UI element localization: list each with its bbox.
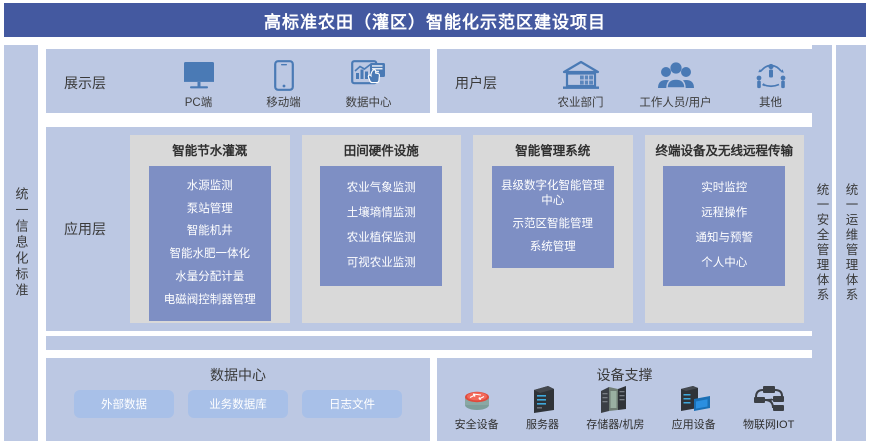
- app-item[interactable]: 远程操作: [701, 205, 747, 222]
- app-item[interactable]: 水源监测: [187, 178, 233, 195]
- app-card-field-hardware[interactable]: 田间硬件设施 农业气象监测 土壤墒情监测 农业植保监测 可视农业监测: [302, 135, 462, 323]
- user-item-agriculture-department[interactable]: 农业部门: [533, 46, 628, 113]
- page-title-bar: 高标准农田（灌区）智能化示范区建设项目: [4, 3, 866, 37]
- data-center-pill-log-files[interactable]: 日志文件: [302, 390, 402, 418]
- user-layer-panel: 用户层 农业部门: [437, 49, 812, 113]
- right-rail-operations-label: 统一运维管理体系: [842, 183, 861, 303]
- app-item[interactable]: 系统管理: [530, 239, 576, 256]
- app-item[interactable]: 智能机井: [187, 223, 233, 240]
- equip-item-application-device[interactable]: 应用设备: [672, 382, 716, 432]
- government-building-icon: [561, 58, 601, 92]
- app-item[interactable]: 电磁阀控制器管理: [164, 292, 256, 309]
- data-center-pill-business-db[interactable]: 业务数据库: [188, 390, 288, 418]
- right-rail-operations-management: 统一运维管理体系: [836, 45, 866, 441]
- mobile-phone-icon: [274, 58, 294, 92]
- app-card-management-system-body: 县级数字化智能管理中心 示范区智能管理 系统管理: [492, 166, 614, 268]
- app-card-terminal-transmission-title: 终端设备及无线远程传输: [655, 143, 793, 160]
- data-center-title: 数据中心: [46, 365, 430, 385]
- left-rail-information-standard: 统一信息化标准: [4, 45, 38, 441]
- data-center-panel: 数据中心 外部数据 业务数据库 日志文件: [46, 358, 430, 441]
- app-card-management-system-title: 智能管理系统: [515, 143, 590, 160]
- app-item[interactable]: 县级数字化智能管理中心: [496, 178, 610, 210]
- app-item[interactable]: 通知与预警: [696, 230, 754, 247]
- app-card-field-hardware-title: 田间硬件设施: [344, 143, 419, 160]
- app-item[interactable]: 个人中心: [701, 255, 747, 272]
- app-item[interactable]: 示范区智能管理: [513, 216, 594, 233]
- app-card-field-hardware-body: 农业气象监测 土壤墒情监测 农业植保监测 可视农业监测: [320, 166, 442, 286]
- page-title: 高标准农田（灌区）智能化示范区建设项目: [264, 8, 606, 33]
- equip-item-server-label: 服务器: [526, 416, 559, 432]
- app-item[interactable]: 可视农业监测: [347, 255, 416, 272]
- iot-network-icon: [752, 382, 786, 414]
- equip-item-storage-label: 存储器/机房: [586, 416, 644, 432]
- user-item-staff-users-label: 工作人员/用户: [639, 94, 711, 110]
- display-layer-label: 展示层: [64, 73, 106, 93]
- app-item[interactable]: 农业植保监测: [347, 230, 416, 247]
- display-item-pc-label: PC端: [185, 94, 212, 110]
- equip-item-security-label: 安全设备: [455, 416, 499, 432]
- user-item-other-label: 其他: [759, 94, 782, 110]
- app-card-smart-irrigation[interactable]: 智能节水灌溉 水源监测 泵站管理 智能机井 智能水肥一体化 水量分配计量 电磁阀…: [130, 135, 290, 323]
- display-layer-panel: 展示层 PC端: [46, 49, 430, 113]
- equip-item-server[interactable]: 服务器: [526, 382, 559, 432]
- display-item-data-center[interactable]: 数据中心: [326, 46, 411, 113]
- display-item-pc[interactable]: PC端: [156, 46, 241, 113]
- display-item-mobile-label: 移动端: [266, 94, 301, 110]
- people-group-icon: [656, 58, 696, 92]
- architecture-diagram: 高标准农田（灌区）智能化示范区建设项目 统一信息化标准 统一安全管理体系 统一运…: [0, 0, 870, 445]
- app-item[interactable]: 农业气象监测: [347, 180, 416, 197]
- app-card-smart-irrigation-title: 智能节水灌溉: [172, 143, 247, 160]
- app-item[interactable]: 土壤墒情监测: [347, 205, 416, 222]
- user-layer-label: 用户层: [455, 73, 497, 93]
- security-router-icon: [459, 382, 495, 414]
- tablet-chart-touch-icon: [351, 58, 387, 92]
- display-item-data-center-label: 数据中心: [346, 94, 392, 110]
- right-rail-security-label: 统一安全管理体系: [813, 183, 832, 303]
- layer-separator-band: [46, 336, 812, 350]
- user-item-other[interactable]: 其他: [723, 46, 818, 113]
- data-center-pill-external[interactable]: 外部数据: [74, 390, 174, 418]
- application-layer-panel: 应用层 智能节水灌溉 水源监测 泵站管理 智能机井 智能水肥一体化 水量分配计量…: [46, 127, 812, 331]
- equip-item-iot-label: 物联网IOT: [743, 416, 794, 432]
- app-card-smart-irrigation-body: 水源监测 泵站管理 智能机井 智能水肥一体化 水量分配计量 电磁阀控制器管理: [149, 166, 271, 321]
- app-item[interactable]: 水量分配计量: [175, 269, 244, 286]
- user-item-agriculture-department-label: 农业部门: [558, 94, 604, 110]
- server-tower-icon: [527, 382, 557, 414]
- equip-item-application-device-label: 应用设备: [672, 416, 716, 432]
- equip-item-iot[interactable]: 物联网IOT: [743, 382, 794, 432]
- people-cycle-icon: [752, 58, 790, 92]
- left-rail-label: 统一信息化标准: [12, 187, 31, 299]
- app-item[interactable]: 智能水肥一体化: [170, 246, 251, 263]
- equip-item-security[interactable]: 安全设备: [455, 382, 499, 432]
- application-layer-label: 应用层: [64, 219, 106, 239]
- app-item[interactable]: 实时监控: [701, 180, 747, 197]
- app-card-terminal-transmission[interactable]: 终端设备及无线远程传输 实时监控 远程操作 通知与预警 个人中心: [645, 135, 805, 323]
- app-card-terminal-transmission-body: 实时监控 远程操作 通知与预警 个人中心: [663, 166, 785, 286]
- equipment-support-panel: 设备支撑 安全设备: [437, 358, 812, 441]
- application-device-icon: [676, 382, 712, 414]
- user-item-staff-users[interactable]: 工作人员/用户: [628, 46, 723, 113]
- app-card-management-system[interactable]: 智能管理系统 县级数字化智能管理中心 示范区智能管理 系统管理: [473, 135, 633, 323]
- display-item-mobile[interactable]: 移动端: [241, 46, 326, 113]
- desktop-monitor-icon: [182, 58, 216, 92]
- storage-rack-icon: [598, 382, 632, 414]
- equip-item-storage[interactable]: 存储器/机房: [586, 382, 644, 432]
- app-item[interactable]: 泵站管理: [187, 201, 233, 218]
